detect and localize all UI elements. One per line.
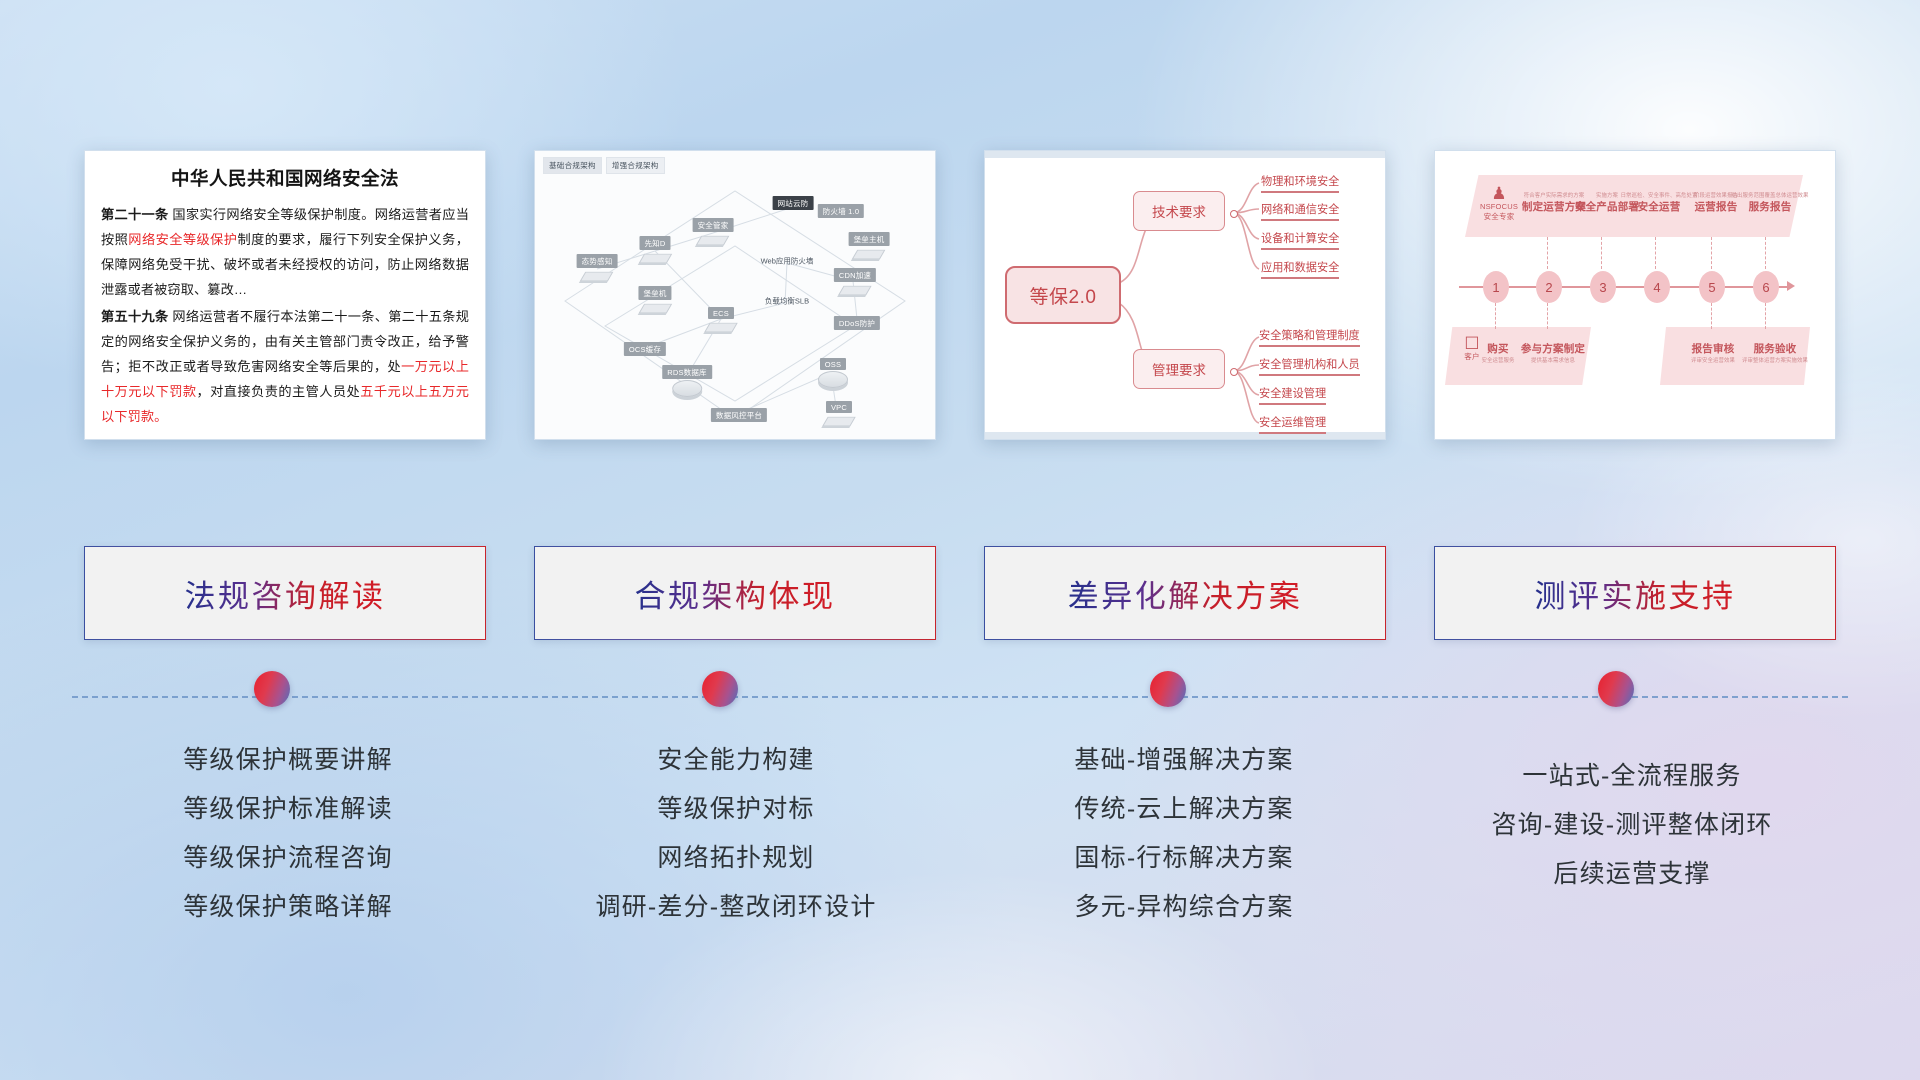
node-label: CDN加速 — [834, 268, 876, 282]
timeline-dot-1[interactable] — [254, 671, 290, 707]
mindmap-branch-dot-management — [1230, 368, 1238, 376]
list-item: 传统-云上解决方案 — [1074, 789, 1293, 825]
process-diagram: ♟ NSFOCUS 安全专家 ☐ 客户 符合客户实际需求的方案 制定运营方案 实… — [1435, 151, 1835, 439]
node-oss: OSS — [818, 358, 848, 388]
process-bottom-item-2: 参与方案制定 提供基本需求信息 — [1521, 341, 1585, 364]
list-item: 国标-行标解决方案 — [1074, 838, 1293, 874]
node-shape-icon — [704, 323, 737, 332]
node-shape-icon — [852, 250, 885, 259]
list-item: 多元-异构综合方案 — [1074, 887, 1293, 923]
mindmap-leaf-security-org-personnel: 安全管理机构和人员 — [1259, 356, 1360, 376]
expert-name-line1: NSFOCUS — [1473, 202, 1525, 212]
law-article-59-number: 第五十九条 — [101, 309, 168, 324]
process-connector-b6 — [1765, 303, 1767, 329]
list-item: 等级保护流程咨询 — [183, 838, 393, 874]
list-item: 咨询-建设-测评整体闭环 — [1491, 805, 1772, 841]
node-firewall: 防火墙 1.0 — [818, 204, 864, 218]
process-connector-2 — [1547, 237, 1549, 269]
process-top-item-5: 给出服务范围覆盖总体运营效果 服务报告 — [1732, 191, 1809, 214]
section-header-label: 差异化解决方案 — [1068, 571, 1303, 616]
bullet-column-compliance-architecture: 安全能力构建 等级保护对标 网络拓扑规划 调研-差分-整改闭环设计 — [536, 740, 936, 923]
node-shape-icon — [696, 236, 729, 245]
node-label: VPC — [826, 401, 852, 413]
label-web-application-firewall: Web应用防火墙 — [761, 256, 814, 267]
node-label: RDS数据库 — [662, 365, 712, 379]
bullet-column-differentiated-solutions: 基础-增强解决方案 传统-云上解决方案 国标-行标解决方案 多元-异构综合方案 — [984, 740, 1384, 923]
process-step-5: 5 — [1699, 271, 1725, 303]
card-row: 中华人民共和国网络安全法 第二十一条 国家实行网络安全等级保护制度。网络运营者应… — [0, 150, 1920, 450]
expert-role: ♟ NSFOCUS 安全专家 — [1473, 185, 1525, 222]
node-label: 安全管家 — [693, 218, 734, 232]
node-cdn: CDN加速 — [834, 268, 876, 298]
process-bottom-item-4-label: 服务验收 — [1742, 341, 1808, 356]
mindmap-diagram: 等保2.0 技术要求 管理要求 物理和环境安全 网络和通信安全 设备和计算安全 … — [985, 151, 1385, 439]
tab-enhanced-architecture[interactable]: 增强合规架构 — [606, 157, 665, 174]
section-header-row: 法规咨询解读 合规架构体现 差异化解决方案 测评实施支持 — [0, 546, 1920, 640]
node-label: 数据风控平台 — [711, 408, 767, 422]
process-top-item-5-label: 服务报告 — [1732, 199, 1809, 214]
mindmap-branch-management: 管理要求 — [1133, 349, 1225, 389]
node-xianzhi: 先知D — [639, 236, 670, 266]
timeline-dot-3[interactable] — [1150, 671, 1186, 707]
process-bottom-item-2-label: 参与方案制定 — [1521, 341, 1585, 356]
mindmap-leaf-security-construction: 安全建设管理 — [1259, 385, 1326, 405]
law-article-21-seg-1: 网络安全等级保护 — [128, 232, 237, 247]
list-item: 等级保护策略详解 — [183, 887, 393, 923]
law-article-59: 第五十九条 网络运营者不履行本法第二十一条、第二十五条规定的网络安全保护义务的，… — [101, 304, 469, 429]
mindmap-leaf-physical-environment: 物理和环境安全 — [1261, 173, 1339, 193]
law-card[interactable]: 中华人民共和国网络安全法 第二十一条 国家实行网络安全等级保护制度。网络运营者应… — [84, 150, 486, 440]
timeline-dot-4[interactable] — [1598, 671, 1634, 707]
section-header-label: 法规咨询解读 — [185, 571, 386, 616]
section-header-regulation-consulting[interactable]: 法规咨询解读 — [84, 546, 486, 640]
mindmap-leaf-application-data: 应用和数据安全 — [1261, 259, 1339, 279]
process-connector-b2 — [1547, 303, 1549, 329]
list-item: 调研-差分-整改闭环设计 — [595, 887, 876, 923]
node-label: 网站云防 — [773, 196, 814, 210]
node-ocs-cache: OCS缓存 — [624, 342, 666, 356]
node-label: 堡垒机 — [638, 286, 671, 300]
mindmap-card[interactable]: 等保2.0 技术要求 管理要求 物理和环境安全 网络和通信安全 设备和计算安全 … — [984, 150, 1386, 440]
bullet-column-regulation-consulting: 等级保护概要讲解 等级保护标准解读 等级保护流程咨询 等级保护策略详解 — [88, 740, 488, 923]
section-header-differentiated-solutions[interactable]: 差异化解决方案 — [984, 546, 1386, 640]
stage: 中华人民共和国网络安全法 第二十一条 国家实行网络安全等级保护制度。网络运营者应… — [0, 0, 1920, 1080]
mindmap-leaf-device-computing: 设备和计算安全 — [1261, 230, 1339, 250]
mindmap-top-rule — [985, 151, 1385, 158]
mindmap-leaf-network-communication: 网络和通信安全 — [1261, 201, 1339, 221]
list-item: 网络拓扑规划 — [657, 838, 814, 874]
expert-name-line2: 安全专家 — [1473, 212, 1525, 222]
node-security-housekeeper: 安全管家 — [693, 218, 734, 248]
node-website-cloud-defense: 网站云防 — [773, 196, 814, 210]
timeline-dot-2[interactable] — [702, 671, 738, 707]
process-connector-4 — [1655, 237, 1657, 269]
section-header-label: 测评实施支持 — [1535, 571, 1736, 616]
bullet-column-row: 等级保护概要讲解 等级保护标准解读 等级保护流程咨询 等级保护策略详解 安全能力… — [0, 740, 1920, 923]
node-shape-icon — [838, 286, 871, 295]
law-article-21-number: 第二十一条 — [101, 207, 168, 222]
architecture-diagram: 基础合规架构 增强合规架构 — [535, 151, 935, 439]
process-bottom-item-3-sub: 评审安全运营效果 — [1691, 356, 1735, 364]
process-card[interactable]: ♟ NSFOCUS 安全专家 ☐ 客户 符合客户实际需求的方案 制定运营方案 实… — [1434, 150, 1836, 440]
process-bottom-item-1-sub: 安全运营服务 — [1482, 356, 1515, 364]
law-card-body: 中华人民共和国网络安全法 第二十一条 国家实行网络安全等级保护制度。网络运营者应… — [85, 151, 485, 439]
node-shape-icon — [672, 380, 702, 397]
process-bottom-item-3-label: 报告审核 — [1691, 341, 1735, 356]
process-axis-arrow-icon — [1787, 281, 1795, 291]
process-step-1: 1 — [1483, 271, 1509, 303]
process-bottom-item-4: 服务验收 评审整体运营方案实施效果 — [1742, 341, 1808, 364]
node-label: DDoS防护 — [834, 316, 880, 330]
node-label: 防火墙 1.0 — [818, 204, 864, 218]
process-step-6: 6 — [1753, 271, 1779, 303]
node-label: ECS — [708, 307, 734, 319]
mindmap-branch-dot-technical — [1230, 210, 1238, 218]
node-shape-icon — [818, 371, 848, 388]
section-header-compliance-architecture[interactable]: 合规架构体现 — [534, 546, 936, 640]
section-header-assessment-support[interactable]: 测评实施支持 — [1434, 546, 1836, 640]
process-step-3: 3 — [1590, 271, 1616, 303]
node-shape-icon — [638, 254, 671, 263]
node-label: OCS缓存 — [624, 342, 666, 356]
process-connector-5 — [1711, 237, 1713, 269]
law-card-title: 中华人民共和国网络安全法 — [101, 165, 469, 191]
process-top-item-3-sub: 日常巡检、安全事件、高危处置 — [1621, 191, 1698, 199]
node-label: OSS — [820, 358, 846, 370]
process-connector-b5 — [1711, 303, 1713, 329]
process-connector-b1 — [1495, 303, 1497, 329]
node-situational-awareness: 态势感知 — [577, 254, 618, 284]
node-rds-database: RDS数据库 — [662, 365, 712, 397]
list-item: 基础-增强解决方案 — [1074, 740, 1293, 776]
list-item: 等级保护对标 — [657, 789, 814, 825]
list-item: 等级保护标准解读 — [183, 789, 393, 825]
architecture-canvas: 态势感知 先知D 安全管家 网站云防 堡垒机 — [535, 151, 935, 439]
list-item: 安全能力构建 — [657, 740, 814, 776]
process-bottom-item-3: 报告审核 评审安全运营效果 — [1691, 341, 1735, 364]
process-step-4: 4 — [1644, 271, 1670, 303]
mindmap-root: 等保2.0 — [1005, 266, 1121, 324]
label-load-balancer: 负载均衡SLB — [765, 296, 809, 307]
node-bastion-host: 堡垒机 — [638, 286, 671, 316]
architecture-tabs: 基础合规架构 增强合规架构 — [543, 157, 665, 174]
node-label: 先知D — [639, 236, 670, 250]
list-item: 等级保护概要讲解 — [183, 740, 393, 776]
process-connector-3 — [1601, 237, 1603, 269]
bullet-column-assessment-support: 一站式-全流程服务 咨询-建设-测评整体闭环 后续运营支撑 — [1432, 740, 1832, 923]
mindmap-leaf-security-operations: 安全运维管理 — [1259, 414, 1326, 434]
process-bottom-item-1-label: 购买 — [1482, 341, 1515, 356]
node-risk-control-platform: 数据风控平台 — [711, 408, 767, 422]
node-ecs: ECS — [707, 307, 735, 335]
architecture-card[interactable]: 基础合规架构 增强合规架构 — [534, 150, 936, 440]
process-step-2: 2 — [1536, 271, 1562, 303]
process-connector-6 — [1765, 237, 1767, 269]
node-shape-icon — [822, 417, 855, 426]
process-top-item-5-sub: 给出服务范围覆盖总体运营效果 — [1732, 191, 1809, 199]
process-bottom-item-1: 购买 安全运营服务 — [1482, 341, 1515, 364]
expert-icon: ♟ — [1473, 185, 1525, 202]
process-bottom-item-2-sub: 提供基本需求信息 — [1521, 356, 1585, 364]
node-bastion-server: 堡垒主机 — [849, 232, 890, 262]
node-shape-icon — [638, 304, 671, 313]
node-vpc: VPC — [825, 401, 853, 429]
mindmap-branch-technical: 技术要求 — [1133, 191, 1225, 231]
process-top-item-3-label: 安全运营 — [1621, 199, 1698, 214]
node-label: 态势感知 — [577, 254, 618, 268]
law-article-59-seg-2: ，对直接负责的主管人员处 — [197, 384, 361, 399]
timeline-dot-row — [0, 671, 1920, 723]
node-shape-icon — [580, 272, 613, 281]
list-item: 后续运营支撑 — [1553, 854, 1710, 890]
process-bottom-item-4-sub: 评审整体运营方案实施效果 — [1742, 356, 1808, 364]
list-item: 一站式-全流程服务 — [1522, 756, 1741, 792]
tab-basic-architecture[interactable]: 基础合规架构 — [543, 157, 602, 174]
process-top-item-3: 日常巡检、安全事件、高危处置 安全运营 — [1621, 191, 1698, 214]
node-label: 堡垒主机 — [849, 232, 890, 246]
section-header-label: 合规架构体现 — [635, 571, 836, 616]
mindmap-leaf-security-policy: 安全策略和管理制度 — [1259, 327, 1360, 347]
node-ddos-protection: DDoS防护 — [834, 316, 880, 330]
law-article-21: 第二十一条 国家实行网络安全等级保护制度。网络运营者应当按照网络安全等级保护制度… — [101, 202, 469, 302]
